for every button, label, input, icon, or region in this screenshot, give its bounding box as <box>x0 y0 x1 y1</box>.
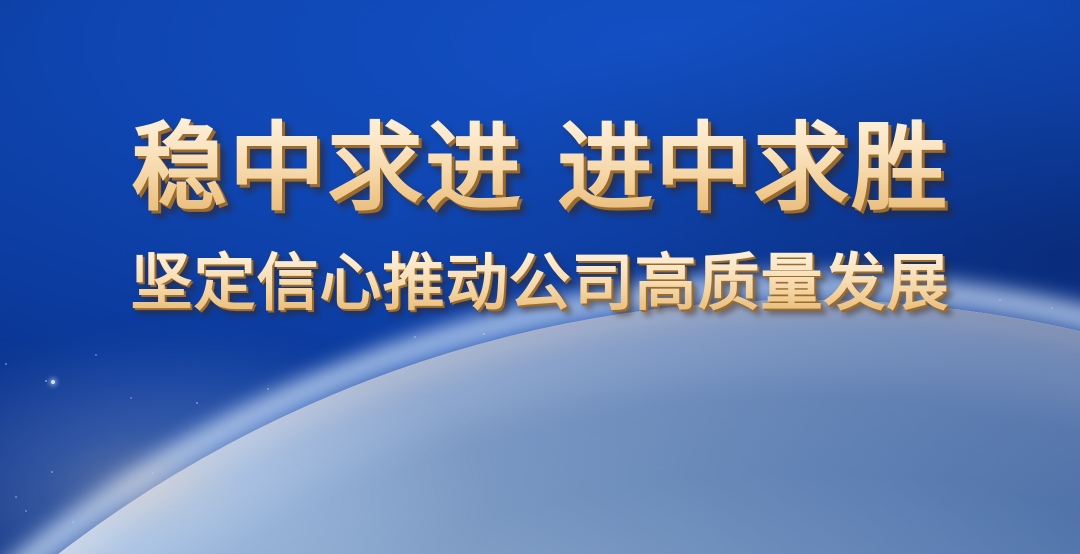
poster-banner: 稳中求进进中求胜 坚定信心推动公司高质量发展 <box>0 0 1080 554</box>
headline-phrase-left: 稳中求进 <box>131 112 523 224</box>
poster-headline: 稳中求进进中求胜 <box>0 112 1080 224</box>
poster-text-block: 稳中求进进中求胜 坚定信心推动公司高质量发展 <box>0 112 1080 320</box>
headline-phrase-right: 进中求胜 <box>557 112 949 224</box>
poster-subheadline: 坚定信心推动公司高质量发展 <box>0 246 1080 320</box>
